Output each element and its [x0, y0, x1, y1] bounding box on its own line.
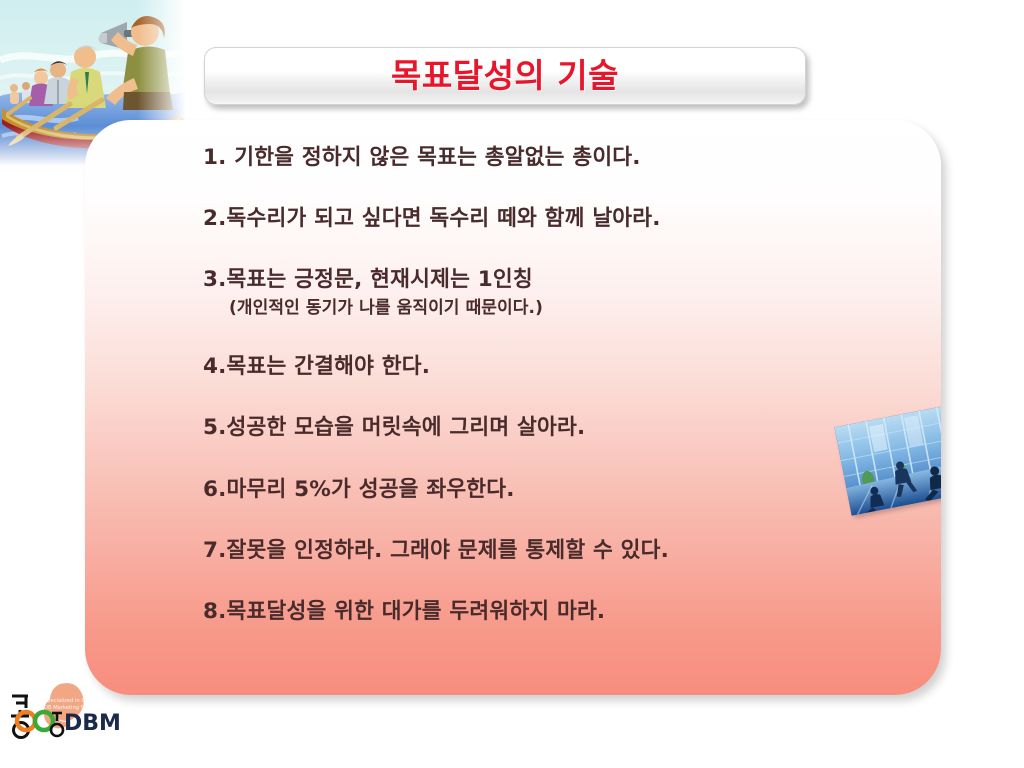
goal-text: 4.목표는 간결해야 한다.	[203, 354, 430, 379]
goal-text: 3.목표는 긍정문, 현재시제는 1인칭	[203, 267, 533, 292]
slide-canvas: 목표달성의 기술 1. 기한을 정하지 않은 목표는 총알없는 총이다. 2.독…	[0, 0, 1024, 768]
goal-text: 2.독수리가 되고 싶다면 독수리 떼와 함께 날아라.	[203, 206, 661, 231]
logo-tagline-line1: Specialized in CRM &	[44, 698, 99, 704]
slide-title-bar: 목표달성의 기술	[204, 47, 806, 105]
page-title: 목표달성의 기술	[391, 59, 619, 92]
list-item: 2.독수리가 되고 싶다면 독수리 떼와 함께 날아라.	[203, 207, 901, 232]
company-logo: DBM Specialized in CRM & DB Marketing So…	[8, 682, 126, 752]
logo-wordmark: DBM	[64, 711, 121, 736]
list-item: 1. 기한을 정하지 않은 목표는 총알없는 총이다.	[203, 146, 901, 171]
list-item: 8.목표달성을 위한 대가를 두려워하지 마라.	[203, 600, 901, 625]
list-item: 3.목표는 긍정문, 현재시제는 1인칭 (개인적인 동기가 나를 움직이기 때…	[203, 268, 901, 318]
goal-list: 1. 기한을 정하지 않은 목표는 총알없는 총이다. 2.독수리가 되고 싶다…	[203, 146, 901, 625]
goal-note: (개인적인 동기가 나를 움직이기 때문이다.)	[229, 299, 901, 319]
goal-text: 6.마무리 5%가 성공을 좌우한다.	[203, 477, 515, 502]
list-item: 5.성공한 모습을 머릿속에 그리며 살아라.	[203, 416, 901, 441]
goal-text: 7.잘못을 인정하라. 그래야 문제를 통제할 수 있다.	[203, 538, 669, 563]
goal-text: 8.목표달성을 위한 대가를 두려워하지 마라.	[203, 599, 605, 624]
content-panel: 1. 기한을 정하지 않은 목표는 총알없는 총이다. 2.독수리가 되고 싶다…	[85, 120, 941, 695]
list-item: 4.목표는 간결해야 한다.	[203, 355, 901, 380]
list-item: 7.잘못을 인정하라. 그래야 문제를 통제할 수 있다.	[203, 539, 901, 564]
goal-text: 5.성공한 모습을 머릿속에 그리며 살아라.	[203, 415, 585, 440]
goal-text: 1. 기한을 정하지 않은 목표는 총알없는 총이다.	[203, 145, 641, 170]
list-item: 6.마무리 5%가 성공을 좌우한다.	[203, 478, 901, 503]
logo-tagline-line2: DB Marketing Solution	[44, 705, 102, 711]
